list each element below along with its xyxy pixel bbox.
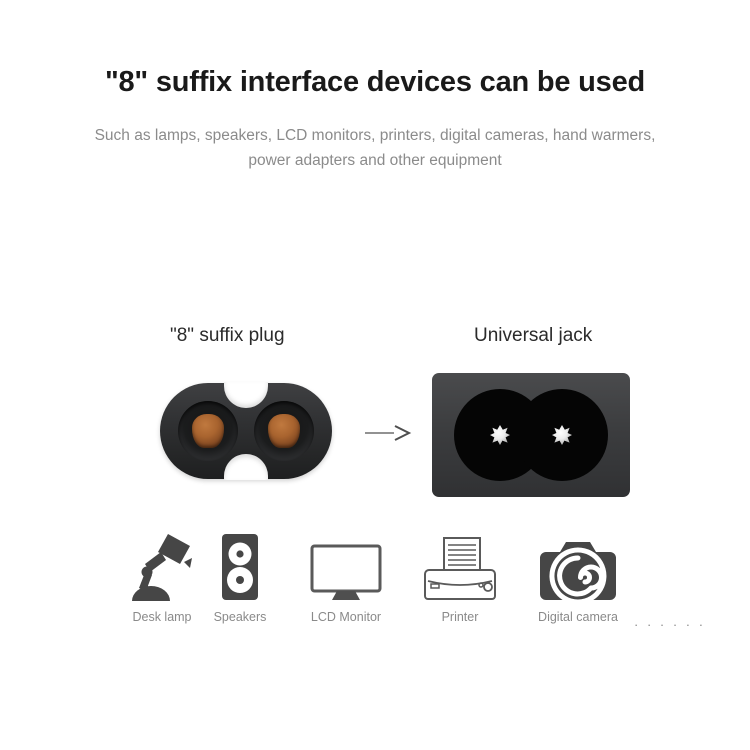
figure-8-plug-image	[160, 383, 332, 479]
device-item-speakers: Speakers	[180, 524, 300, 624]
header: "8" suffix interface devices can be used…	[0, 64, 750, 174]
plug-socket-right	[254, 401, 314, 461]
plug-jack-comparison: "8" suffix plug Universal jack	[0, 325, 750, 515]
page-subtitle: Such as lamps, speakers, LCD monitors, p…	[45, 124, 705, 174]
device-label: Speakers	[180, 610, 300, 624]
product-infographic: "8" suffix interface devices can be used…	[0, 0, 750, 750]
subtitle-line-1: Such as lamps, speakers, LCD monitors, p…	[45, 124, 705, 149]
compatible-devices-row: Desk lamp Speakers LCD Mo	[0, 524, 750, 639]
monitor-icon	[286, 524, 406, 602]
more-devices-ellipsis: · · · · · ·	[634, 617, 706, 632]
plug-caption: "8" suffix plug	[170, 325, 285, 347]
device-label: Digital camera	[518, 610, 638, 624]
plug-contact-right	[268, 414, 300, 448]
device-label: Printer	[400, 610, 520, 624]
device-item-printer: Printer	[400, 524, 520, 624]
arrow-right-icon	[364, 425, 412, 441]
jack-waist-bridge	[502, 417, 560, 453]
speaker-icon	[180, 524, 300, 602]
printer-icon	[400, 524, 520, 602]
universal-jack-image	[432, 373, 630, 497]
device-item-digital-camera: Digital camera	[518, 524, 638, 624]
device-label: LCD Monitor	[286, 610, 406, 624]
plug-socket-left	[178, 401, 238, 461]
subtitle-line-2: power adapters and other equipment	[45, 149, 705, 174]
plug-contact-left	[192, 414, 224, 448]
camera-icon	[518, 524, 638, 602]
device-item-lcd-monitor: LCD Monitor	[286, 524, 406, 624]
jack-caption: Universal jack	[474, 325, 592, 347]
page-title: "8" suffix interface devices can be used	[0, 64, 750, 100]
jack-recess	[454, 389, 608, 481]
